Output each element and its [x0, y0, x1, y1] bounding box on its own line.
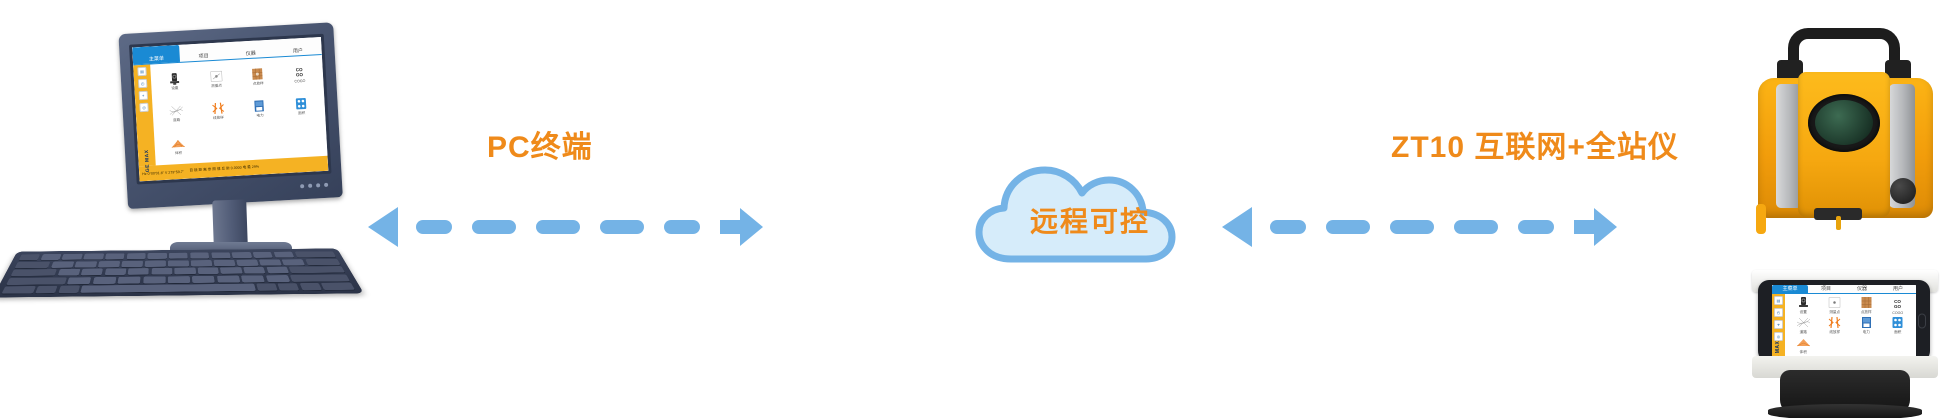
page-icon[interactable]: ▤: [137, 67, 146, 76]
dash: [1270, 220, 1306, 234]
tile-label: COGO: [1892, 311, 1903, 315]
tab-instrument[interactable]: 仪器: [227, 40, 275, 60]
tile-label: 电力: [256, 114, 263, 119]
measure-point-icon: [207, 69, 225, 83]
monitor-button[interactable]: [316, 183, 320, 187]
tab-label: 项目: [198, 53, 208, 61]
tile-road[interactable]: 道路: [1788, 316, 1819, 335]
tab-project[interactable]: 项目: [179, 42, 227, 62]
phone-home-button[interactable]: [1918, 314, 1926, 329]
volume-icon: [169, 137, 187, 151]
tab-instrument[interactable]: 仪器: [1844, 285, 1880, 293]
tile-volume[interactable]: 体积: [157, 130, 199, 164]
label-pc-terminal: PC终端: [487, 122, 593, 166]
app-body: ▤ ◴ ⌖ ◎ GE MAX: [1772, 294, 1916, 357]
tab-main-menu[interactable]: 主菜单: [1772, 285, 1808, 293]
side-clamp[interactable]: [1756, 204, 1766, 234]
page-icon[interactable]: ▤: [1774, 296, 1783, 305]
power-line-icon: [1858, 316, 1875, 329]
brand-logo: GE MAX: [143, 150, 150, 173]
dash: [1326, 220, 1370, 234]
clock-icon[interactable]: ◴: [138, 79, 147, 88]
target-icon[interactable]: ⌖: [139, 91, 148, 100]
tile-area[interactable]: 面积: [1882, 316, 1913, 335]
dash: [1518, 220, 1554, 234]
tile-road[interactable]: 道路: [155, 97, 197, 131]
dash: [416, 220, 452, 234]
volume-icon: [1795, 336, 1812, 349]
app-tile-grid: 设置 测量点: [1785, 294, 1916, 357]
road-icon: [1795, 316, 1812, 329]
tile-measure-point[interactable]: 测量点: [1819, 296, 1850, 315]
tile-label: 面积: [298, 111, 305, 116]
monitor-button[interactable]: [300, 184, 304, 188]
line-stakeout-icon: [209, 102, 227, 116]
line-stakeout-icon: [1826, 316, 1843, 329]
target-icon[interactable]: ⌖: [1774, 320, 1783, 329]
desktop-computer: 主菜单 项目 仪器 用户 ▤ ◴ ⌖ ◎ GE MAX: [18, 28, 368, 318]
status-readings: 目 镜 距 离 参 照 值 反 射 0.3000 电 量 29%: [189, 165, 259, 174]
svg-text:CO: CO: [1894, 299, 1901, 304]
tile-label: 线放样: [213, 116, 224, 122]
tile-label: 电力: [1863, 330, 1870, 335]
tile-label: 点放样: [253, 81, 264, 87]
tab-label: 仪器: [246, 50, 256, 58]
bidirectional-dashed-arrow-right: [1222, 205, 1617, 249]
tile-stakeout[interactable]: 点放样: [1851, 296, 1882, 315]
tab-project[interactable]: 项目: [1808, 285, 1844, 293]
area-icon: [292, 97, 310, 111]
stakeout-icon: [249, 67, 267, 81]
arrow-left-svg: [368, 205, 763, 249]
lcd-monitor: 主菜单 项目 仪器 用户 ▤ ◴ ⌖ ◎ GE MAX: [118, 22, 342, 209]
telescope-lens-glass: [1815, 100, 1873, 145]
tile-stakeout[interactable]: 点放样: [237, 60, 279, 94]
dash: [1390, 220, 1434, 234]
tile-label: 道路: [1800, 330, 1807, 335]
stakeout-icon: [1858, 296, 1875, 309]
cloud-node: 远程可控: [975, 155, 1205, 265]
app-tile-grid: 设置 测量点: [150, 55, 327, 165]
right-arrow-head: [1574, 208, 1617, 246]
svg-text:GO: GO: [296, 72, 304, 77]
total-station-icon: [1795, 296, 1812, 309]
cloud-label: 远程可控: [975, 200, 1205, 240]
base-plate: [1768, 404, 1922, 418]
cogo-icon: CO GO: [291, 65, 309, 79]
tab-label: 仪器: [1857, 285, 1867, 292]
mounted-smartphone[interactable]: 主菜单 项目 仪器 用户 ▤ ◴ ⌖ ◎ GE MAX: [1758, 280, 1930, 362]
arrow-right-svg: [1222, 205, 1617, 249]
trunnion-pin: [1836, 216, 1841, 230]
area-icon: [1889, 316, 1906, 329]
tile-label: 设置: [1800, 310, 1807, 315]
tile-label: 线放样: [1829, 330, 1840, 335]
tab-label: 项目: [1821, 285, 1831, 292]
tile-label: 测量点: [211, 83, 222, 89]
tab-label: 主菜单: [1782, 285, 1797, 292]
tile-label: 体积: [1800, 350, 1807, 355]
monitor-stand-neck: [212, 199, 248, 246]
tile-label: 体积: [175, 151, 182, 156]
tile-line-stakeout[interactable]: 线放样: [1819, 316, 1850, 335]
tile-label: COGO: [294, 79, 305, 84]
tab-user[interactable]: 用户: [274, 37, 322, 57]
dash: [536, 220, 580, 234]
tab-main-menu[interactable]: 主菜单: [132, 45, 180, 65]
cogo-icon: CO GO: [1889, 297, 1906, 310]
app-side-rail: ▤ ◴ ⌖ ◎ GE MAX: [1772, 294, 1785, 357]
road-icon: [167, 104, 185, 118]
dash: [664, 220, 700, 234]
tile-power-line[interactable]: 电力: [238, 92, 280, 126]
tile-label: 点放样: [1861, 310, 1872, 315]
tab-label: 用户: [1893, 285, 1903, 292]
tangent-knob[interactable]: [1890, 178, 1916, 204]
bidirectional-dashed-arrow-left: [368, 205, 763, 249]
monitor-power-button[interactable]: [324, 183, 328, 187]
svg-text:GO: GO: [1894, 304, 1902, 309]
geomax-app-mobile: 主菜单 项目 仪器 用户 ▤ ◴ ⌖ ◎ GE MAX: [1772, 285, 1916, 357]
tile-label: 设置: [171, 86, 178, 91]
phone-screen[interactable]: 主菜单 项目 仪器 用户 ▤ ◴ ⌖ ◎ GE MAX: [1772, 285, 1916, 357]
tile-line-stakeout[interactable]: 线放样: [197, 95, 239, 129]
dash: [472, 220, 516, 234]
tile-label: 道路: [173, 118, 180, 123]
tab-user[interactable]: 用户: [1880, 285, 1916, 293]
tile-settings[interactable]: 设置: [1788, 296, 1819, 315]
left-arrow-head: [368, 207, 398, 247]
tile-area[interactable]: 面积: [280, 90, 322, 124]
total-station: 主菜单 项目 仪器 用户 ▤ ◴ ⌖ ◎ GE MAX: [1742, 18, 1949, 418]
geomax-app: 主菜单 项目 仪器 用户 ▤ ◴ ⌖ ◎ GE MAX: [132, 37, 328, 181]
clock-icon[interactable]: ◴: [1774, 308, 1783, 317]
brand-logo: GE MAX: [1775, 341, 1781, 357]
label-total-station: ZT10 互联网+全站仪: [1391, 122, 1679, 166]
app-body: ▤ ◴ ⌖ ◎ GE MAX: [133, 55, 327, 166]
dash: [1454, 220, 1498, 234]
tile-label: 测量点: [1829, 310, 1840, 315]
right-arrow-head: [720, 208, 763, 246]
compass-icon[interactable]: ◎: [139, 103, 148, 112]
keyboard[interactable]: [0, 248, 364, 297]
monitor-button[interactable]: [308, 184, 312, 188]
tile-power-line[interactable]: 电力: [1851, 316, 1882, 335]
tile-cogo[interactable]: CO GO COGO: [1882, 296, 1913, 315]
tile-measure-point[interactable]: 测量点: [195, 62, 237, 96]
total-station-icon: [165, 71, 183, 85]
tile-settings[interactable]: 设置: [153, 65, 195, 99]
carry-handle: [1788, 28, 1900, 68]
tile-volume[interactable]: 体积: [1788, 336, 1819, 355]
tile-cogo[interactable]: CO GO COGO: [278, 58, 320, 92]
measure-point-icon: [1826, 296, 1843, 309]
diagram-canvas: 主菜单 项目 仪器 用户 ▤ ◴ ⌖ ◎ GE MAX: [0, 0, 1949, 418]
app-tab-bar: 主菜单 项目 仪器 用户: [1772, 285, 1916, 294]
keyboard-row: [1, 283, 355, 294]
left-arrow-head: [1222, 207, 1252, 247]
tile-label: 面积: [1894, 330, 1901, 335]
power-line-icon: [251, 99, 269, 113]
dash: [600, 220, 644, 234]
tab-label: 主菜单: [149, 55, 164, 63]
monitor-screen[interactable]: 主菜单 项目 仪器 用户 ▤ ◴ ⌖ ◎ GE MAX: [132, 37, 328, 181]
tab-label: 用户: [293, 47, 303, 55]
